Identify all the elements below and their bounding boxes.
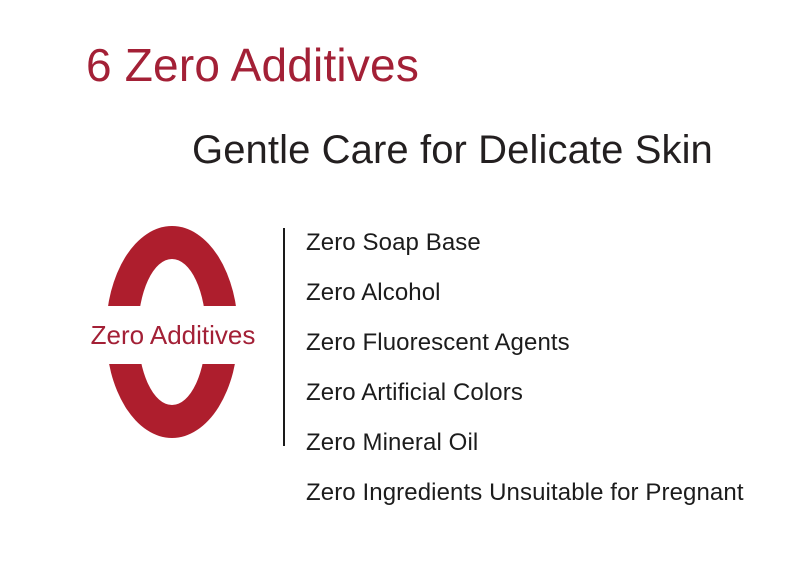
zero-additives-badge: Zero Additives bbox=[62, 224, 284, 442]
vertical-divider bbox=[283, 228, 285, 446]
list-item: Zero Fluorescent Agents bbox=[306, 318, 786, 368]
list-item: Zero Soap Base bbox=[306, 218, 786, 268]
badge-label: Zero Additives bbox=[62, 306, 284, 364]
list-item: Zero Artificial Colors bbox=[306, 368, 786, 418]
infographic-canvas: 6 Zero Additives Gentle Care for Delicat… bbox=[0, 0, 800, 582]
list-item: Zero Ingredients Unsuitable for Pregnant bbox=[306, 468, 786, 518]
page-subtitle: Gentle Care for Delicate Skin bbox=[192, 126, 713, 174]
benefits-list: Zero Soap Base Zero Alcohol Zero Fluores… bbox=[306, 218, 786, 518]
page-title: 6 Zero Additives bbox=[86, 38, 419, 92]
list-item: Zero Alcohol bbox=[306, 268, 786, 318]
list-item: Zero Mineral Oil bbox=[306, 418, 786, 468]
